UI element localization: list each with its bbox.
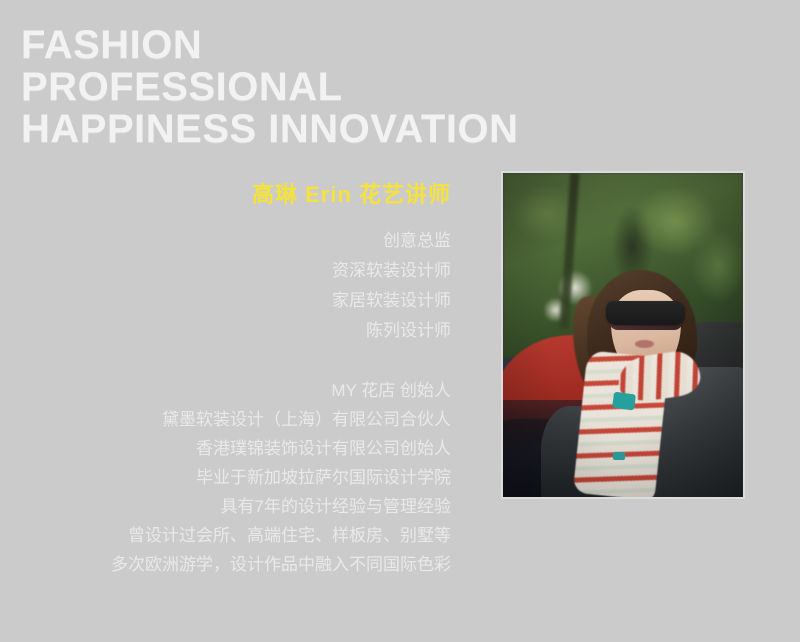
photo-lips xyxy=(635,340,654,348)
headline-line-1: FASHION xyxy=(21,24,621,66)
headline-line-2: PROFESSIONAL xyxy=(21,66,621,108)
profile-credential-item: 黛墨软装设计（上海）有限公司合伙人 xyxy=(20,405,451,434)
profile-title-item: 家居软装设计师 xyxy=(20,286,451,316)
photo-scarf-teal-accent xyxy=(612,392,636,411)
headline-line-3: HAPPINESS INNOVATION xyxy=(21,108,621,150)
photo-sunglasses-frame xyxy=(606,301,685,325)
portrait-photo-frame xyxy=(501,171,745,499)
profile-name-title: 高琳 Erin 花艺讲师 xyxy=(20,180,451,210)
photo-scarf-teal-accent-small xyxy=(613,452,625,460)
profile-credential-item: 多次欧洲游学，设计作品中融入不同国际色彩 xyxy=(20,550,451,579)
poster-canvas: FASHION PROFESSIONAL HAPPINESS INNOVATIO… xyxy=(0,0,800,642)
profile-credential-item: 曾设计过会所、高端住宅、样板房、别墅等 xyxy=(20,521,451,550)
profile-title-item: 陈列设计师 xyxy=(20,316,451,346)
profile-credential-item: 毕业于新加坡拉萨尔国际设计学院 xyxy=(20,463,451,492)
profile-titles-list: 创意总监 资深软装设计师 家居软装设计师 陈列设计师 xyxy=(20,226,451,346)
profile-credentials-list: MY 花店 创始人 黛墨软装设计（上海）有限公司合伙人 香港璞锦装饰设计有限公司… xyxy=(20,376,451,579)
profile-title-item: 资深软装设计师 xyxy=(20,256,451,286)
profile-credential-item: 具有7年的设计经验与管理经验 xyxy=(20,492,451,521)
portrait-photo xyxy=(503,173,743,497)
headline-block: FASHION PROFESSIONAL HAPPINESS INNOVATIO… xyxy=(21,24,621,150)
profile-title-item: 创意总监 xyxy=(20,226,451,256)
profile-credential-item: MY 花店 创始人 xyxy=(20,376,451,405)
profile-credential-item: 香港璞锦装饰设计有限公司创始人 xyxy=(20,434,451,463)
profile-text-block: 高琳 Erin 花艺讲师 创意总监 资深软装设计师 家居软装设计师 陈列设计师 … xyxy=(20,180,451,579)
